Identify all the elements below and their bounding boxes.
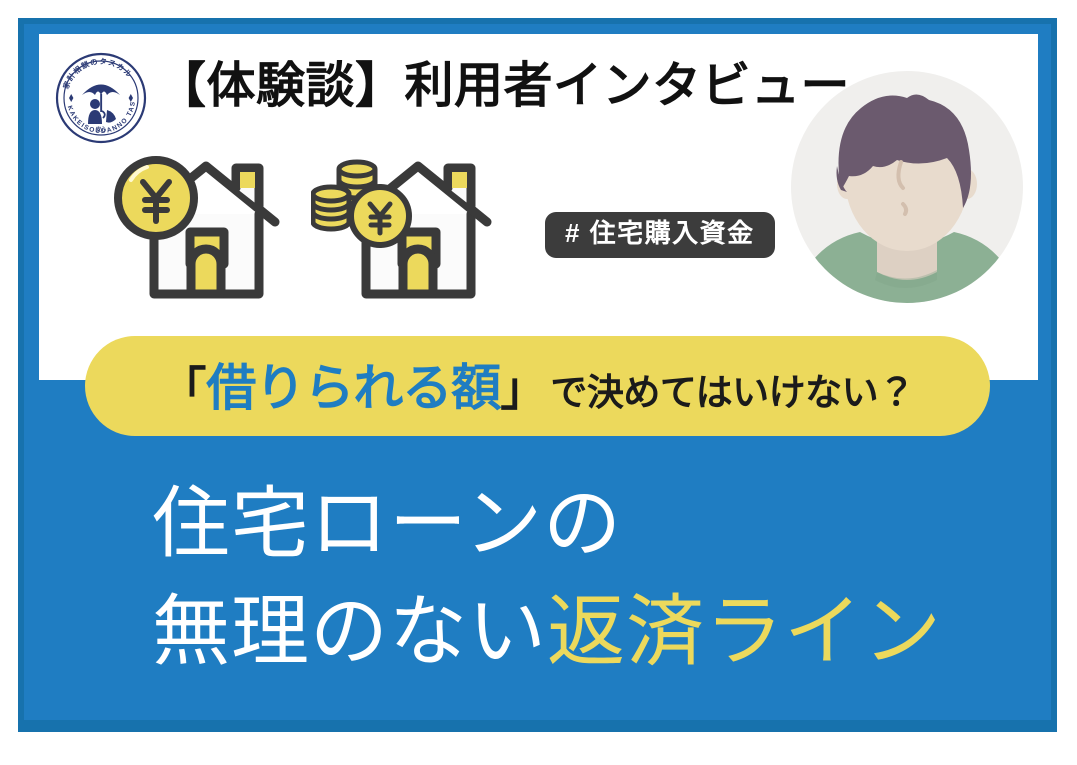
page-title: 【体験談】利用者インタビュー bbox=[157, 58, 850, 114]
headline-line-2-accent: 返済ライン bbox=[547, 587, 942, 675]
poster-canvas: 家計相談のタスカル KAKEISOUDANNO TASUKARU 安心 【体験談… bbox=[0, 0, 1077, 765]
header-card: 家計相談のタスカル KAKEISOUDANNO TASUKARU 安心 【体験談… bbox=[39, 34, 1038, 380]
house-with-coin-stack-icon bbox=[311, 136, 511, 321]
subtitle-banner: 「 借りられる額 」 で決めてはいけない？ bbox=[85, 336, 990, 436]
hashtag-badge[interactable]: # 住宅購入資金 bbox=[545, 212, 775, 258]
subtitle-banner-text: 「 借りられる額 」 で決めてはいけない？ bbox=[160, 363, 914, 413]
house-with-yen-coin-icon bbox=[99, 136, 299, 321]
headline-line-1: 住宅ローンの bbox=[152, 470, 1012, 578]
svg-text:安心: 安心 bbox=[96, 126, 106, 133]
headline-line-2-white: 無理のない bbox=[152, 587, 547, 675]
headline: 住宅ローンの 無理のない返済ライン bbox=[152, 470, 1012, 685]
banner-rest: で決めてはいけない？ bbox=[550, 374, 914, 411]
banner-open-quote: 「 bbox=[160, 366, 206, 412]
avatar bbox=[791, 56, 1023, 318]
headline-line-2: 無理のない返済ライン bbox=[152, 578, 1012, 686]
banner-close-quote: 」 bbox=[500, 366, 546, 412]
banner-highlight: 借りられる額 bbox=[206, 363, 500, 413]
house-illustrations bbox=[99, 134, 569, 324]
brand-logo: 家計相談のタスカル KAKEISOUDANNO TASUKARU 安心 bbox=[55, 52, 147, 144]
